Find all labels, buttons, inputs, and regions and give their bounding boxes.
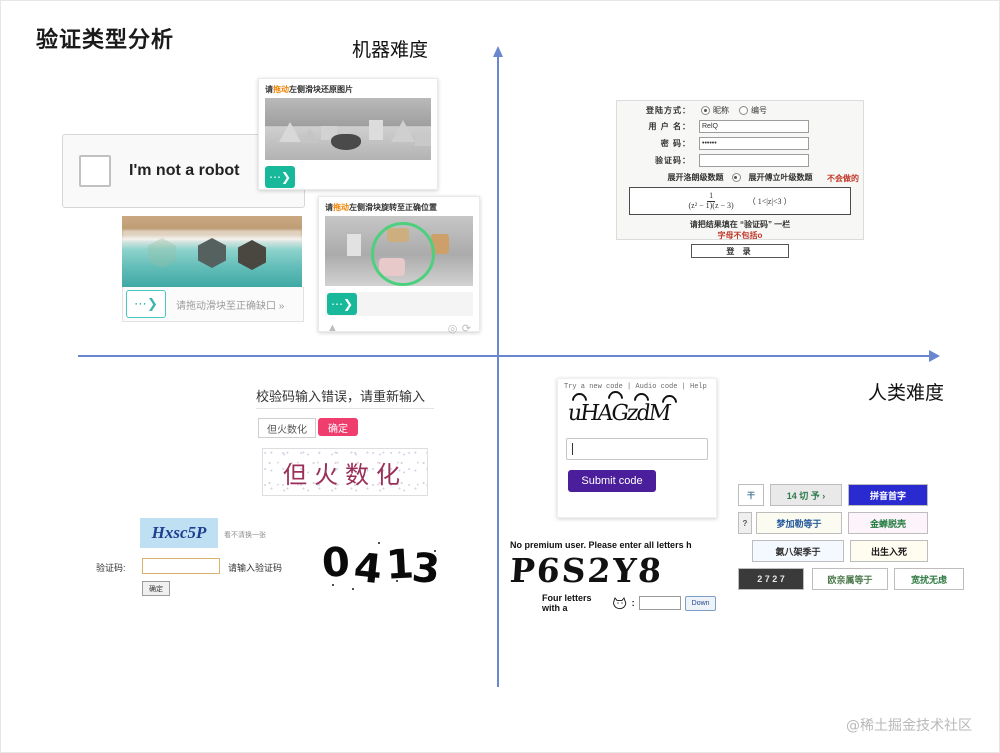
login-type-row: 登陆方式： 昵称 编号 (635, 105, 863, 116)
premium-captcha-widget[interactable]: No premium user. Please enter all letter… (510, 540, 716, 616)
password-label: 密 码： (635, 138, 691, 149)
shape-gear-center (331, 134, 361, 150)
puzzle-image-gray (265, 98, 431, 160)
radio-nickname[interactable]: 昵称 (701, 105, 729, 116)
premium-captcha-download-button[interactable]: Down (685, 596, 716, 611)
axis-label-machine-difficulty: 机器难度 (352, 35, 428, 62)
captcha-thumbnail: 出生入死 (850, 540, 928, 562)
slide-canvas: 验证类型分析 机器难度 人类难度 I'm not a robot ⋯❯ 请拖动滑… (0, 0, 1000, 753)
captcha-thumbnail: 14 切 予 › (770, 484, 842, 506)
premium-captcha-input[interactable] (639, 596, 682, 610)
axis-vertical (497, 55, 499, 687)
slider-hint-beach: 请拖动滑块至正确缺口 » (176, 297, 284, 312)
captcha-row: 验证码： (635, 154, 863, 167)
password-input[interactable]: •••••• (699, 137, 809, 150)
premium-captcha-title: No premium user. Please enter all letter… (510, 540, 716, 550)
captcha-action-links[interactable]: Try a new code | Audio code | Help (558, 379, 716, 391)
shape-gear-right (415, 132, 431, 146)
rotate-prompt-highlight: 拖动 (333, 203, 349, 212)
premium-captcha-prompt-row: Four letters with a : Down (510, 593, 716, 613)
formula-fraction: 1 (z² − 1)(z − 3) (689, 192, 734, 210)
digit-3: 3 (410, 545, 442, 593)
math-formula: 1 (z² − 1)(z − 3) （ 1<|z|<3 ） (629, 187, 851, 215)
shape-pyramid-3 (391, 120, 415, 142)
math-login-submit-button[interactable]: 登 录 (691, 244, 789, 258)
slider-gray-prompt-prefix: 请 (265, 85, 273, 94)
axis-label-human-difficulty: 人类难度 (868, 378, 944, 405)
submit-code-input[interactable] (566, 438, 708, 460)
math-instruction: 请把结果填在 “验证码” 一栏 (617, 219, 863, 230)
captcha-thumbnail: 干 (738, 484, 764, 506)
login-type-label: 登陆方式： (635, 105, 691, 116)
slider-puzzle-gray-card[interactable]: 请拖动左侧滑块还原图片 ⋯❯ (258, 78, 438, 190)
noise-speck (332, 584, 334, 586)
slider-puzzle-beach[interactable]: ⋯❯ 请拖动滑块至正确缺口 » (122, 216, 302, 321)
slider-handle-gray[interactable]: ⋯❯ (265, 166, 295, 188)
premium-captcha-prompt: Four letters with a (542, 593, 608, 613)
watermark: @稀土掘金技术社区 (846, 715, 972, 735)
math-side-note: 不会做的 (827, 173, 859, 184)
expand-fourier-label[interactable]: 展开傅立叶级数题 (749, 172, 813, 183)
slider-gray-prompt-highlight: 拖动 (273, 85, 289, 94)
cat-icon (612, 597, 628, 610)
slider-gray-prompt-suffix: 左侧滑块还原图片 (289, 85, 353, 94)
shape-pyramid-2 (301, 128, 319, 143)
rotate-prompt: 请拖动左侧滑块旋转至正确位置 (319, 197, 479, 216)
math-captcha-login-form[interactable]: 登陆方式： 昵称 编号 用 户 名： RelQ 密 码： •••••• 验证码：… (616, 100, 864, 240)
cn-captcha-image[interactable]: 但火数化 (262, 448, 428, 496)
captcha-input[interactable] (699, 154, 809, 167)
rotate-card-footer: ▲ ◎ ⟳ (319, 316, 479, 337)
rotate-object-cup (347, 234, 361, 256)
cn-captcha-input[interactable]: 但火数化 (258, 418, 316, 438)
captcha-thumbnail: 欧亲属等于 (812, 568, 888, 590)
text-caret (572, 443, 573, 455)
rotate-slider-handle[interactable]: ⋯❯ (327, 293, 357, 315)
puzzle-piece-gap-2 (238, 240, 266, 270)
cn-captcha-error-text: 校验码输入错误，请重新输入 (256, 386, 425, 405)
puzzle-piece-gap-1 (198, 238, 226, 268)
digit-0: 0 (320, 539, 351, 587)
puzzle-piece-target (148, 238, 176, 268)
expand-laurent-label: 展开洛朗级数题 (668, 172, 724, 183)
captcha-label: 验证码： (635, 155, 691, 166)
axis-horizontal (78, 355, 930, 357)
noise-speck (378, 542, 380, 544)
refresh-icon[interactable]: ⟳ (462, 323, 471, 335)
cn-captcha-divider (256, 408, 434, 409)
alnum-captcha-placeholder-text: 请输入验证码 (228, 561, 282, 574)
shape-pyramid-1 (279, 122, 301, 142)
submit-code-captcha-card[interactable]: Try a new code | Audio code | Help uHAGz… (557, 378, 717, 518)
premium-captcha-prompt-suffix: : (632, 598, 635, 608)
distorted-code-image: uHAGzdM (558, 391, 716, 435)
question-circle-icon[interactable]: ◎ (448, 323, 458, 335)
captcha-thumbnail: 宽扰无虑 (894, 568, 964, 590)
recaptcha-label: I'm not a robot (129, 162, 239, 180)
password-row: 密 码： •••••• (635, 137, 863, 150)
puzzle-image-beach (122, 216, 302, 287)
username-input[interactable]: RelQ (699, 120, 809, 133)
captcha-thumbnail: 金蝉脱壳 (848, 512, 928, 534)
formula-condition: （ 1<|z|<3 ） (748, 196, 792, 207)
math-warning: 字母不包括o (617, 230, 863, 241)
alnum-captcha-refresh-link[interactable]: 看不清换一张 (224, 530, 266, 540)
alnum-captcha-input[interactable] (142, 558, 220, 574)
username-row: 用 户 名： RelQ (635, 120, 863, 133)
captcha-thumbnail: 氨八架季于 (752, 540, 844, 562)
cn-captcha-confirm-button[interactable]: 确定 (318, 418, 358, 436)
rotate-footer-actions[interactable]: ◎ ⟳ (448, 319, 471, 337)
captcha-thumbnail-grid: 干14 切 予 ›拼音首字?梦加勒等于金蝉脱壳氨八架季于出生入死2 7 2 7欧… (738, 484, 928, 596)
rotate-prompt-suffix: 左侧滑块旋转至正确位置 (349, 203, 437, 212)
noise-speck (434, 550, 436, 552)
logo-icon: ▲ (327, 322, 338, 334)
digit-captcha-image[interactable]: 0 4 1 3 (322, 540, 450, 592)
submit-code-button[interactable]: Submit code (568, 470, 656, 492)
captcha-thumbnail: 梦加勒等于 (756, 512, 842, 534)
radio-number-label: 编号 (751, 105, 767, 116)
slider-gray-prompt: 请拖动左侧滑块还原图片 (259, 79, 437, 98)
slider-track-beach[interactable]: ⋯❯ 请拖动滑块至正确缺口 » (122, 287, 304, 322)
premium-captcha-code: P6S2Y8 (509, 551, 718, 590)
alnum-captcha-label: 验证码: (96, 561, 126, 574)
rotate-puzzle-card[interactable]: 请拖动左侧滑块旋转至正确位置 ⋯❯ ▲ ◎ ⟳ (318, 196, 480, 332)
captcha-thumbnail: 2 7 2 7 (738, 568, 804, 590)
alnum-captcha-submit-button[interactable]: 确定 (142, 581, 170, 596)
noise-speck (396, 580, 398, 582)
captcha-thumbnail: 拼音首字 (848, 484, 928, 506)
rotate-image (325, 216, 473, 286)
alnum-captcha-image[interactable]: Hxsc5P (140, 518, 218, 548)
slider-handle-icon[interactable]: ⋯❯ (126, 290, 166, 318)
rotate-prompt-prefix: 请 (325, 203, 333, 212)
shape-cube-2 (369, 120, 383, 140)
formula-denominator: (z² − 1)(z − 3) (689, 202, 734, 210)
noise-speck (352, 588, 354, 590)
radio-dot-number-icon (739, 106, 748, 115)
captcha-thumbnail: ? (738, 512, 752, 534)
radio-dot-laurent-icon[interactable] (732, 173, 741, 182)
cn-captcha-image-text: 但火数化 (283, 455, 407, 490)
radio-number[interactable]: 编号 (739, 105, 767, 116)
distorted-code-text: uHAGzdM (566, 401, 671, 426)
page-title: 验证类型分析 (36, 22, 174, 54)
radio-dot-nickname-icon (701, 106, 710, 115)
rotate-slider-track[interactable]: ⋯❯ (325, 292, 473, 316)
username-label: 用 户 名： (635, 121, 691, 132)
rotate-selection-circle (371, 222, 435, 286)
digit-4: 4 (352, 545, 384, 594)
radio-nickname-label: 昵称 (713, 105, 729, 116)
recaptcha-checkbox[interactable] (79, 155, 111, 187)
